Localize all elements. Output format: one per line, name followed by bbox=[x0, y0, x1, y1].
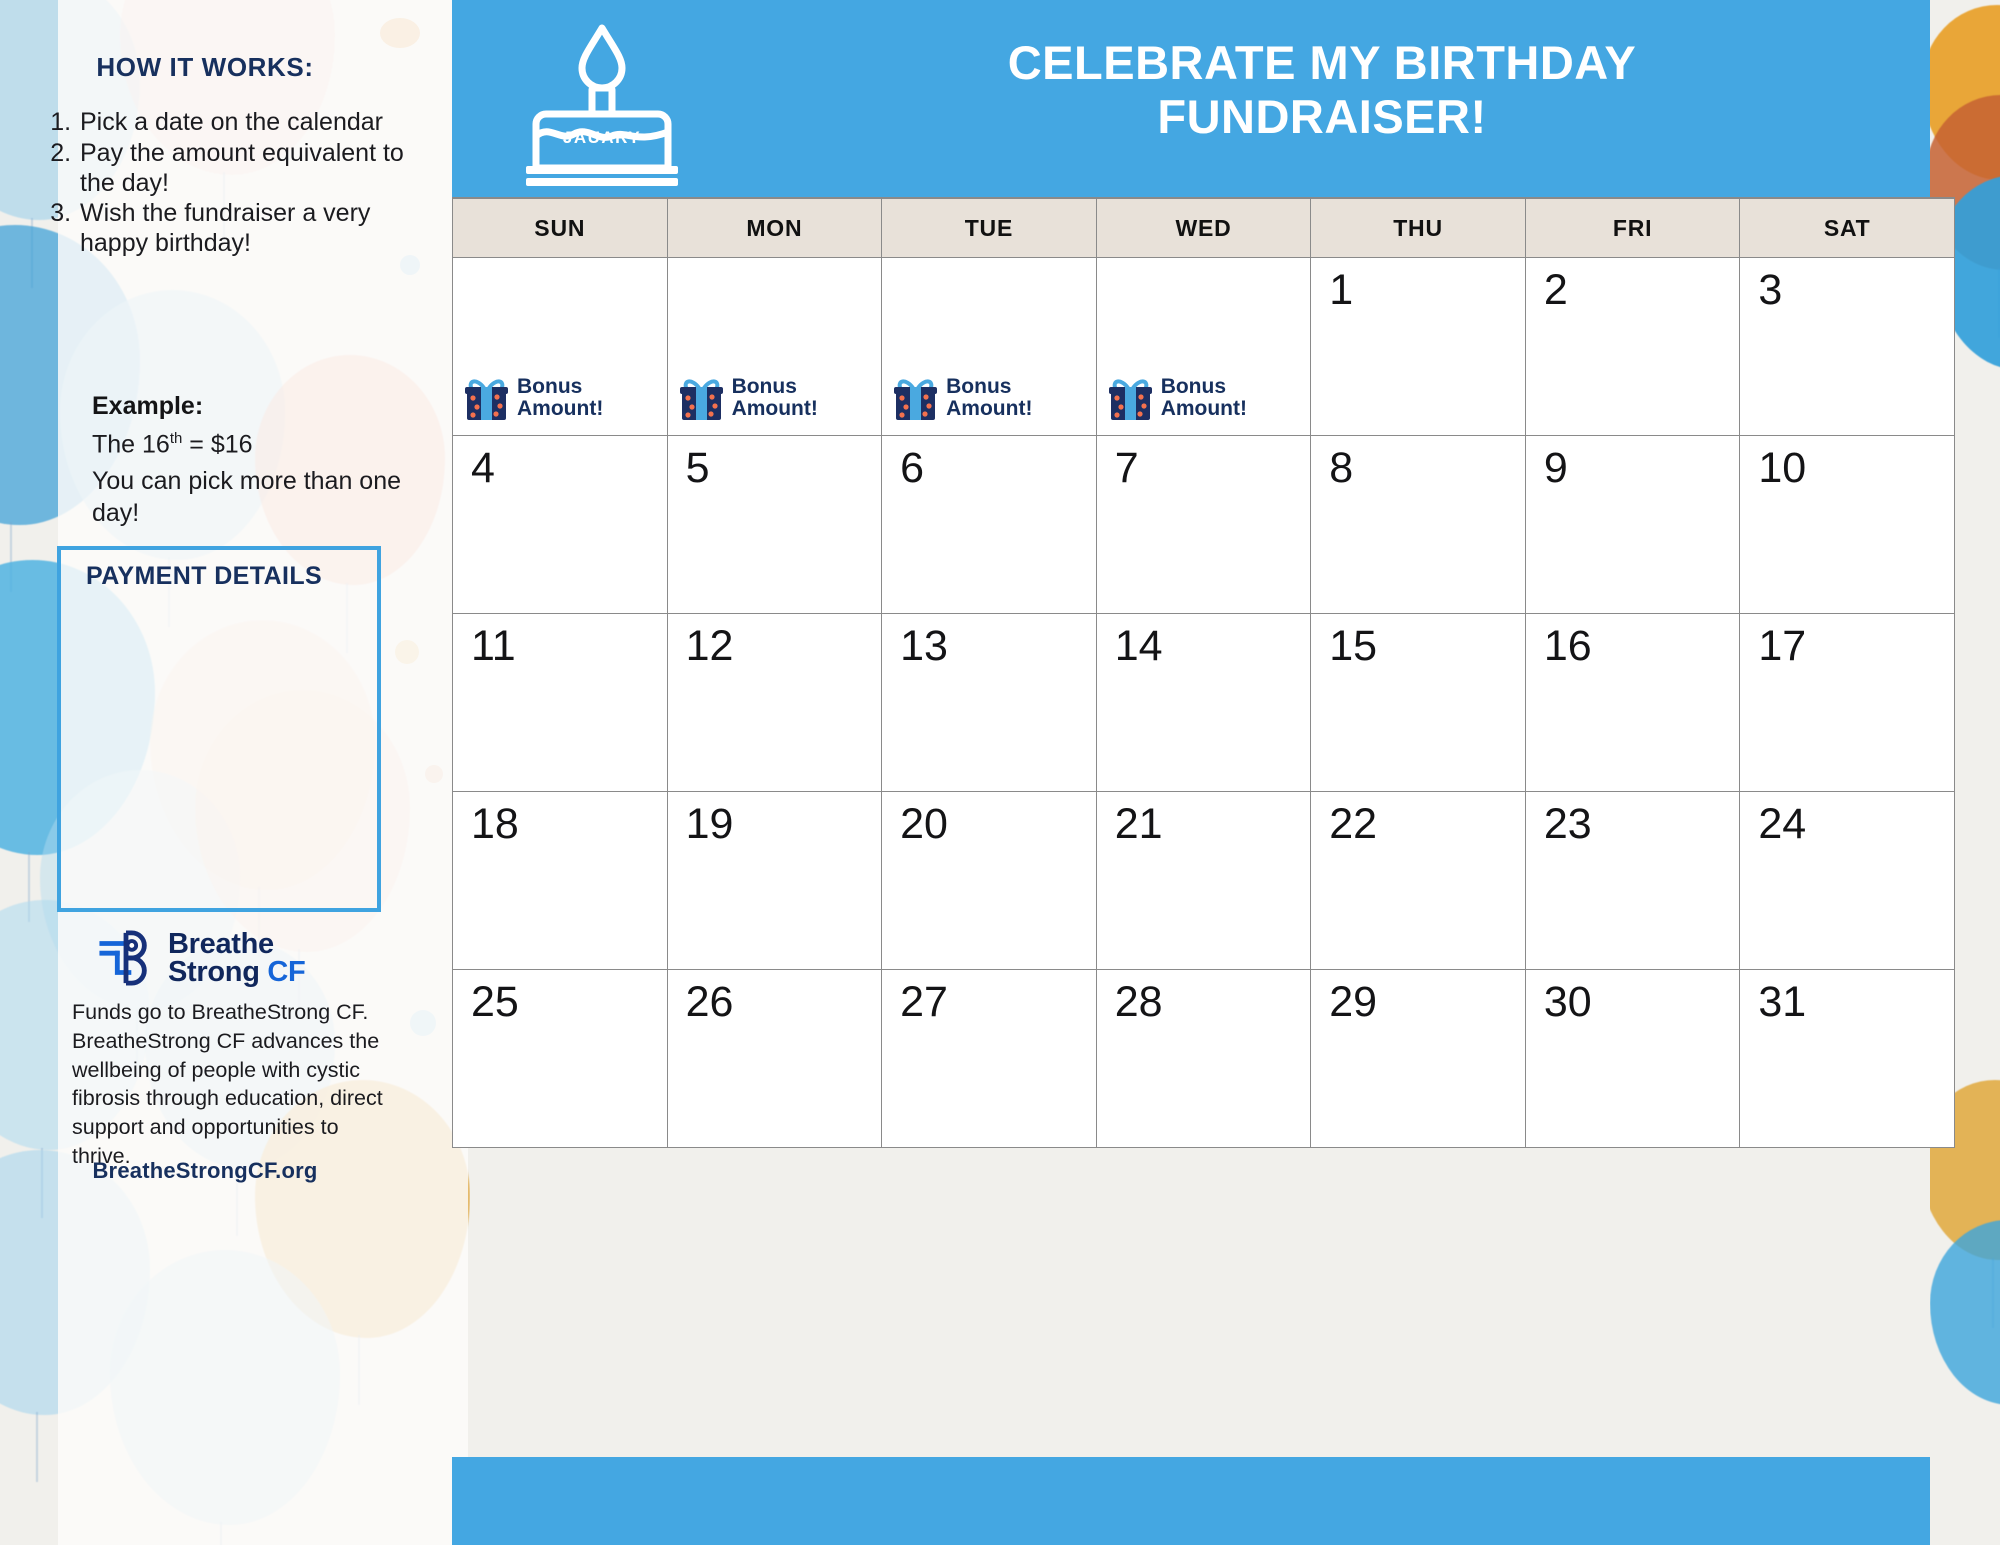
calendar-week-row: 11121314151617 bbox=[453, 614, 1955, 792]
day-number: 28 bbox=[1115, 978, 1163, 1027]
day-number: 17 bbox=[1758, 622, 1806, 671]
calendar-day-cell[interactable]: 25 bbox=[453, 970, 668, 1148]
calendar-table: SUN MON TUE WED THU FRI SAT BonusAmount!… bbox=[452, 197, 1955, 1148]
calendar-day-cell[interactable]: 26 bbox=[667, 970, 882, 1148]
bonus-amount-badge[interactable]: BonusAmount! bbox=[463, 376, 603, 421]
bonus-amount-badge[interactable]: BonusAmount! bbox=[892, 376, 1032, 421]
step-item: Wish the fundraiser a very happy birthda… bbox=[78, 199, 408, 259]
day-number: 27 bbox=[900, 978, 948, 1027]
calendar-day-cell[interactable]: 4 bbox=[453, 436, 668, 614]
calendar-day-cell[interactable]: 13 bbox=[882, 614, 1097, 792]
page-title: CELEBRATE MY BIRTHDAY FUNDRAISER! bbox=[752, 36, 1892, 144]
weekday-header: THU bbox=[1311, 198, 1526, 258]
calendar-day-cell[interactable]: 6 bbox=[882, 436, 1097, 614]
page-title-line-1: CELEBRATE MY BIRTHDAY bbox=[752, 36, 1892, 90]
day-number: 14 bbox=[1115, 622, 1163, 671]
calendar-day-cell[interactable]: BonusAmount! bbox=[453, 258, 668, 436]
gift-box-icon bbox=[1107, 376, 1154, 421]
day-number: 10 bbox=[1758, 444, 1806, 493]
calendar-header-row: SUN MON TUE WED THU FRI SAT bbox=[453, 198, 1955, 258]
day-number: 4 bbox=[471, 444, 495, 493]
calendar-day-cell[interactable]: BonusAmount! bbox=[1096, 258, 1311, 436]
step-item: Pay the amount equivalent to the day! bbox=[78, 139, 408, 199]
breathestrong-logo: Breathe Strong CF bbox=[96, 930, 305, 987]
calendar-day-cell[interactable]: 31 bbox=[1740, 970, 1955, 1148]
calendar-day-cell[interactable]: 22 bbox=[1311, 792, 1526, 970]
day-number: 25 bbox=[471, 978, 519, 1027]
calendar-day-cell[interactable]: 21 bbox=[1096, 792, 1311, 970]
how-it-works-title: HOW IT WORKS: bbox=[0, 52, 410, 83]
calendar-week-row: BonusAmount!BonusAmount!BonusAmount!Bonu… bbox=[453, 258, 1955, 436]
calendar-day-cell[interactable]: 16 bbox=[1525, 614, 1740, 792]
day-number: 7 bbox=[1115, 444, 1139, 493]
calendar-day-cell[interactable]: 14 bbox=[1096, 614, 1311, 792]
calendar-day-cell[interactable]: 19 bbox=[667, 792, 882, 970]
day-number: 13 bbox=[900, 622, 948, 671]
website-link[interactable]: BreatheStrongCF.org bbox=[0, 1158, 410, 1184]
logo-line-2: Strong CF bbox=[168, 958, 305, 986]
calendar-day-cell[interactable]: 29 bbox=[1311, 970, 1526, 1148]
calendar: SUN MON TUE WED THU FRI SAT BonusAmount!… bbox=[452, 197, 1955, 1148]
weekday-header: MON bbox=[667, 198, 882, 258]
calendar-day-cell[interactable]: 20 bbox=[882, 792, 1097, 970]
step-item: Pick a date on the calendar bbox=[78, 108, 408, 138]
funds-description: Funds go to BreatheStrong CF. BreatheStr… bbox=[72, 998, 392, 1171]
calendar-day-cell[interactable]: 11 bbox=[453, 614, 668, 792]
gift-box-icon bbox=[892, 376, 939, 421]
day-number: 23 bbox=[1544, 800, 1592, 849]
day-number: 24 bbox=[1758, 800, 1806, 849]
calendar-day-cell[interactable]: 23 bbox=[1525, 792, 1740, 970]
calendar-day-cell[interactable]: 28 bbox=[1096, 970, 1311, 1148]
payment-details-title: PAYMENT DETAILS bbox=[86, 562, 322, 591]
example-heading: Example: bbox=[92, 392, 203, 421]
birthday-cake-icon bbox=[512, 18, 692, 186]
day-number: 19 bbox=[686, 800, 734, 849]
calendar-day-cell[interactable]: 7 bbox=[1096, 436, 1311, 614]
logo-wordmark: Breathe Strong CF bbox=[168, 930, 305, 987]
weekday-header: SAT bbox=[1740, 198, 1955, 258]
calendar-day-cell[interactable]: 1 bbox=[1311, 258, 1526, 436]
calendar-day-cell[interactable]: 17 bbox=[1740, 614, 1955, 792]
day-number: 15 bbox=[1329, 622, 1377, 671]
day-number: 21 bbox=[1115, 800, 1163, 849]
calendar-day-cell[interactable]: 8 bbox=[1311, 436, 1526, 614]
payment-details-box[interactable] bbox=[57, 546, 381, 912]
header-bar: JAUARY CELEBRATE MY BIRTHDAY FUNDRAISER! bbox=[452, 0, 1930, 197]
weekday-header: TUE bbox=[882, 198, 1097, 258]
calendar-day-cell[interactable]: 30 bbox=[1525, 970, 1740, 1148]
logo-line-1: Breathe bbox=[168, 930, 305, 958]
day-number: 5 bbox=[686, 444, 710, 493]
bonus-amount-label: BonusAmount! bbox=[946, 376, 1032, 421]
ordinal-suffix: th bbox=[170, 430, 183, 447]
day-number: 3 bbox=[1758, 266, 1782, 315]
calendar-week-row: 18192021222324 bbox=[453, 792, 1955, 970]
day-number: 29 bbox=[1329, 978, 1377, 1027]
day-number: 6 bbox=[900, 444, 924, 493]
footer-bar bbox=[452, 1457, 1930, 1545]
calendar-day-cell[interactable]: 27 bbox=[882, 970, 1097, 1148]
bonus-amount-label: BonusAmount! bbox=[517, 376, 603, 421]
calendar-day-cell[interactable]: BonusAmount! bbox=[667, 258, 882, 436]
day-number: 9 bbox=[1544, 444, 1568, 493]
calendar-day-cell[interactable]: 15 bbox=[1311, 614, 1526, 792]
calendar-week-row: 45678910 bbox=[453, 436, 1955, 614]
calendar-day-cell[interactable]: 12 bbox=[667, 614, 882, 792]
weekday-header: FRI bbox=[1525, 198, 1740, 258]
logo-cf-text: CF bbox=[267, 956, 305, 988]
calendar-day-cell[interactable]: BonusAmount! bbox=[882, 258, 1097, 436]
day-number: 1 bbox=[1329, 266, 1353, 315]
day-number: 22 bbox=[1329, 800, 1377, 849]
bonus-amount-label: BonusAmount! bbox=[1161, 376, 1247, 421]
example-line-1: The 16th = $16 bbox=[92, 430, 253, 459]
weekday-header: SUN bbox=[453, 198, 668, 258]
page-title-line-2: FUNDRAISER! bbox=[752, 90, 1892, 144]
calendar-day-cell[interactable]: 18 bbox=[453, 792, 668, 970]
calendar-day-cell[interactable]: 3 bbox=[1740, 258, 1955, 436]
how-it-works-steps: Pick a date on the calendar Pay the amou… bbox=[46, 108, 408, 260]
day-number: 30 bbox=[1544, 978, 1592, 1027]
bonus-amount-label: BonusAmount! bbox=[732, 376, 818, 421]
cake-month-label: JAUARY bbox=[512, 128, 692, 148]
day-number: 20 bbox=[900, 800, 948, 849]
day-number: 26 bbox=[686, 978, 734, 1027]
example-line-2: You can pick more than one day! bbox=[92, 466, 402, 529]
gift-box-icon bbox=[463, 376, 510, 421]
day-number: 8 bbox=[1329, 444, 1353, 493]
calendar-body: BonusAmount!BonusAmount!BonusAmount!Bonu… bbox=[453, 258, 1955, 1148]
day-number: 18 bbox=[471, 800, 519, 849]
example-text-post: = $16 bbox=[182, 430, 252, 458]
calendar-day-cell[interactable]: 10 bbox=[1740, 436, 1955, 614]
breathestrong-logo-icon bbox=[96, 930, 156, 986]
bonus-amount-badge[interactable]: BonusAmount! bbox=[678, 376, 818, 421]
day-number: 16 bbox=[1544, 622, 1592, 671]
bonus-amount-badge[interactable]: BonusAmount! bbox=[1107, 376, 1247, 421]
logo-strong-text: Strong bbox=[168, 956, 267, 988]
gift-box-icon bbox=[678, 376, 725, 421]
calendar-day-cell[interactable]: 5 bbox=[667, 436, 882, 614]
weekday-header: WED bbox=[1096, 198, 1311, 258]
calendar-day-cell[interactable]: 9 bbox=[1525, 436, 1740, 614]
calendar-day-cell[interactable]: 24 bbox=[1740, 792, 1955, 970]
day-number: 11 bbox=[471, 622, 516, 671]
calendar-day-cell[interactable]: 2 bbox=[1525, 258, 1740, 436]
day-number: 2 bbox=[1544, 266, 1568, 315]
day-number: 31 bbox=[1758, 978, 1806, 1027]
day-number: 12 bbox=[686, 622, 734, 671]
example-text-pre: The 16 bbox=[92, 430, 170, 458]
calendar-week-row: 25262728293031 bbox=[453, 970, 1955, 1148]
